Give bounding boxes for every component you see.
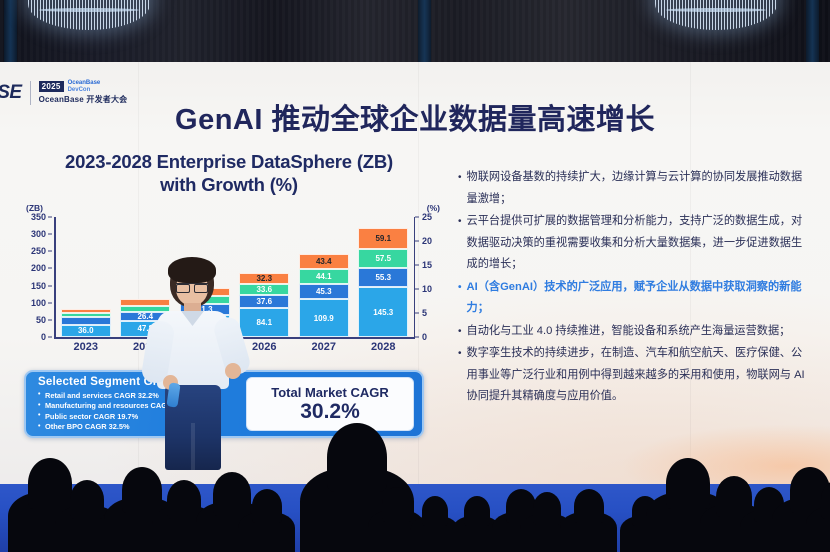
y-tick-left: 350 bbox=[31, 212, 46, 222]
logo-devcon: OceanBase DevCon bbox=[68, 80, 101, 93]
bar-segment: 36.0 bbox=[61, 325, 111, 337]
bar-segment bbox=[61, 309, 111, 312]
audience-head bbox=[327, 423, 387, 492]
x-tick-label: 2028 bbox=[358, 341, 408, 353]
bar-column: 109.945.344.143.4 bbox=[299, 254, 349, 337]
audience-head bbox=[574, 489, 604, 524]
conference-photo: ASE 2025 OceanBase DevCon OceanBase 开发者大… bbox=[0, 0, 830, 552]
bullet-marker: • bbox=[458, 211, 462, 276]
y-tick-right: 15 bbox=[422, 260, 432, 270]
bullet-marker: • bbox=[458, 167, 462, 210]
audience-head bbox=[666, 458, 710, 509]
y-tick-mark bbox=[415, 313, 419, 314]
bar-segment bbox=[61, 317, 111, 325]
bullet-item: •数字孪生技术的持续进步，在制造、汽车和航空航天、医疗保健、公用事业等广泛行业和… bbox=[458, 343, 810, 408]
y-tick-mark bbox=[48, 251, 52, 252]
audience-head bbox=[252, 489, 282, 524]
bullet-item: •云平台提供可扩展的数据管理和分析能力，支持广泛的数据生成，对数据驱动决策的重视… bbox=[458, 211, 810, 276]
bar-column: 36.0 bbox=[61, 309, 111, 337]
slide-headline: GenAI 推动全球企业数据量高速增长 bbox=[0, 96, 830, 138]
audience-foreground: aBase D bbox=[0, 422, 830, 552]
y-tick-mark bbox=[48, 337, 52, 338]
y-tick-left: 150 bbox=[31, 281, 46, 291]
bar-segment bbox=[61, 313, 111, 317]
audience-head bbox=[213, 472, 251, 516]
bullet-item: •自动化与工业 4.0 持续推进，智能设备和系统产生海量运营数据； bbox=[458, 321, 810, 343]
bullet-text: 物联网设备基数的持续扩大，边缘计算与云计算的协同发展推动数据量激增； bbox=[467, 167, 810, 210]
y-tick-left: 300 bbox=[31, 229, 46, 239]
y-tick-left: 200 bbox=[31, 263, 46, 273]
logo-devcon-line1: OceanBase bbox=[68, 80, 101, 86]
glasses-icon bbox=[176, 283, 208, 290]
y-tick-mark bbox=[48, 319, 52, 320]
bar-segment: 44.1 bbox=[299, 269, 349, 284]
y-tick-mark bbox=[48, 302, 52, 303]
y-tick-mark bbox=[415, 265, 419, 266]
audience-head bbox=[167, 480, 201, 519]
pillar bbox=[418, 0, 431, 62]
y-tick-left: 0 bbox=[41, 332, 46, 342]
chart-title-line2: with Growth (%) bbox=[28, 173, 430, 196]
chart-title-line1: 2023-2028 Enterprise DataSphere (ZB) bbox=[28, 150, 430, 173]
audience-head bbox=[716, 476, 752, 517]
bar-segment: 59.1 bbox=[358, 228, 408, 248]
bar-column: 145.355.357.559.1 bbox=[358, 228, 408, 337]
bar-segment: 55.3 bbox=[358, 268, 408, 287]
bullet-text: 数字孪生技术的持续进步，在制造、汽车和航空航天、医疗保健、公用事业等广泛行业和用… bbox=[467, 343, 810, 408]
bullet-panel: •物联网设备基数的持续扩大，边缘计算与云计算的协同发展推动数据量激增；•云平台提… bbox=[458, 167, 810, 409]
logo-year-badge: 2025 bbox=[39, 81, 64, 92]
bullet-item: •AI（含GenAI）技术的广泛应用，赋予企业从数据中获取洞察的新能力； bbox=[458, 277, 810, 320]
audience-head bbox=[464, 496, 490, 526]
audience-head bbox=[382, 487, 412, 522]
y-axis-right: 0510152025 bbox=[410, 217, 444, 337]
audience-head bbox=[533, 492, 561, 524]
bullet-marker: • bbox=[458, 277, 462, 320]
bullet-marker: • bbox=[458, 321, 462, 343]
y-tick-left: 250 bbox=[31, 246, 46, 256]
bar-segment: 57.5 bbox=[358, 249, 408, 269]
audience-head bbox=[28, 458, 72, 509]
total-cagr-label: Total Market CAGR bbox=[271, 385, 389, 400]
y-tick-left: 50 bbox=[36, 315, 46, 325]
audience-head bbox=[422, 496, 448, 526]
total-cagr-value: 30.2% bbox=[300, 400, 360, 423]
y-tick-mark bbox=[415, 241, 419, 242]
y-tick-mark bbox=[415, 337, 419, 338]
y-tick-mark bbox=[48, 217, 52, 218]
bullet-text: 云平台提供可扩展的数据管理和分析能力，支持广泛的数据生成，对数据驱动决策的重视需… bbox=[467, 211, 810, 276]
logo-devcon-line2: DevCon bbox=[68, 87, 101, 94]
y-tick-mark bbox=[48, 268, 52, 269]
y-tick-right: 5 bbox=[422, 308, 427, 318]
y-tick-right: 25 bbox=[422, 212, 432, 222]
x-tick-label: 2027 bbox=[299, 341, 349, 353]
x-tick-label: 2023 bbox=[61, 341, 111, 353]
bullet-text: AI（含GenAI）技术的广泛应用，赋予企业从数据中获取洞察的新能力； bbox=[467, 277, 810, 320]
y-tick-mark bbox=[415, 217, 419, 218]
y-tick-right: 0 bbox=[422, 332, 427, 342]
y-tick-right: 20 bbox=[422, 236, 432, 246]
pillar bbox=[4, 0, 17, 62]
pillar bbox=[806, 0, 819, 62]
bullet-item: •物联网设备基数的持续扩大，边缘计算与云计算的协同发展推动数据量激增； bbox=[458, 167, 810, 210]
bar-segment: 45.3 bbox=[299, 284, 349, 300]
bullet-text: 自动化与工业 4.0 持续推进，智能设备和系统产生海量运营数据； bbox=[467, 321, 791, 343]
bar-segment: 109.9 bbox=[299, 299, 349, 337]
audience-head bbox=[122, 467, 162, 513]
y-tick-mark bbox=[48, 234, 52, 235]
bar-segment: 43.4 bbox=[299, 254, 349, 269]
y-tick-left: 100 bbox=[31, 298, 46, 308]
y-tick-mark bbox=[48, 285, 52, 286]
audience-head bbox=[70, 480, 104, 519]
y-axis-left: 050100150200250300350 bbox=[20, 217, 54, 337]
bar-segment: 145.3 bbox=[358, 287, 408, 337]
y-tick-right: 10 bbox=[422, 284, 432, 294]
chart-title: 2023-2028 Enterprise DataSphere (ZB) wit… bbox=[14, 150, 444, 196]
y-tick-mark bbox=[415, 289, 419, 290]
bullet-marker: • bbox=[458, 343, 462, 408]
